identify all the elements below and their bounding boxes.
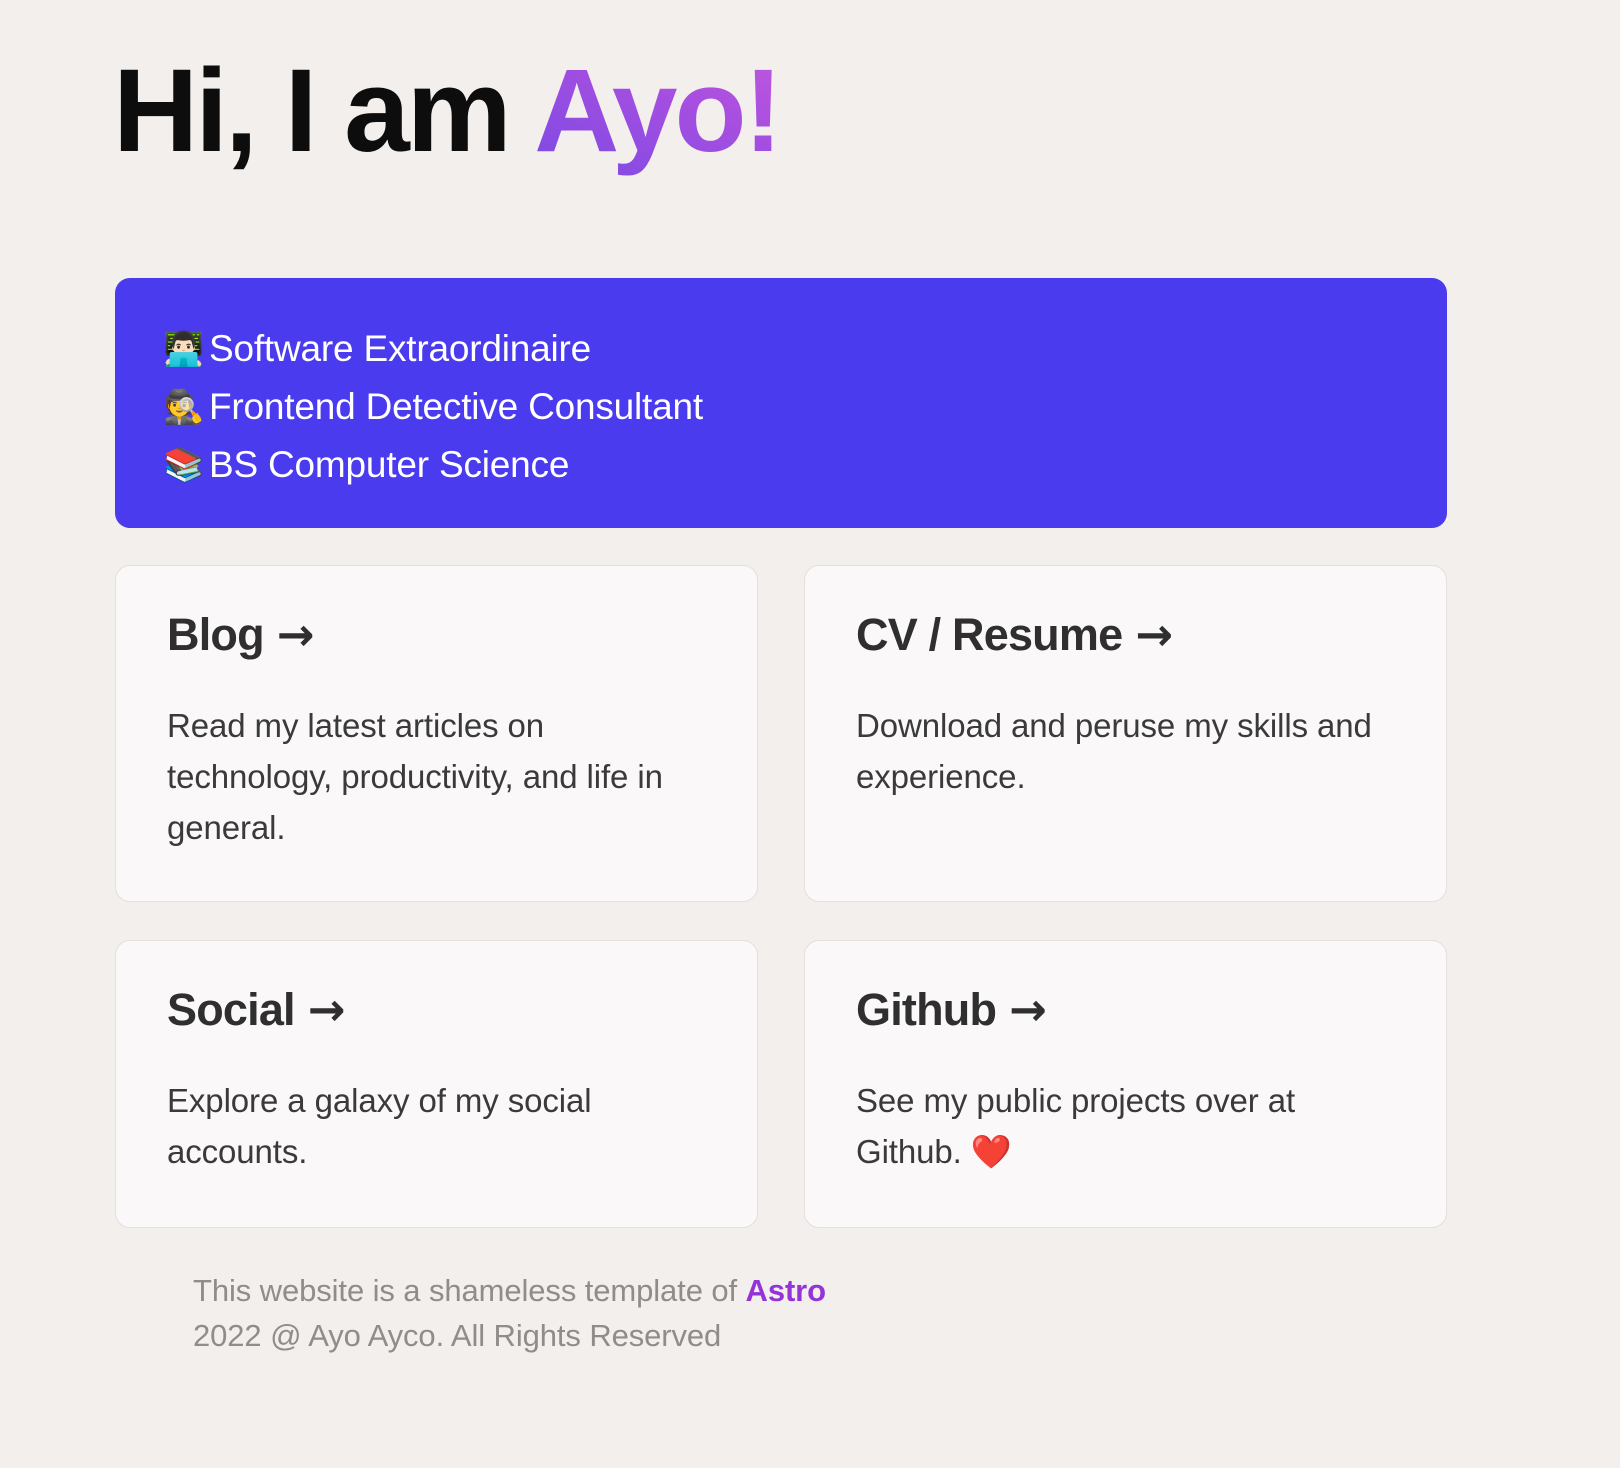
card-title: Social→ (167, 985, 717, 1035)
intro-item-label: BS Computer Science (209, 436, 569, 494)
arrow-right-icon: → (1135, 610, 1172, 660)
card-github[interactable]: Github→ See my public projects over at G… (804, 940, 1447, 1228)
card-title-label: CV / Resume (856, 609, 1122, 660)
card-title: CV / Resume→ (856, 610, 1406, 660)
card-description: Explore a galaxy of my social accounts. (167, 1075, 717, 1177)
intro-item-label: Software Extraordinaire (209, 320, 591, 378)
man-technologist-emoji: 👨🏻‍💻 (163, 320, 209, 378)
card-title: Github→ (856, 985, 1406, 1035)
detective-emoji: 🕵️ (163, 378, 209, 436)
list-item: 🕵️ Frontend Detective Consultant (163, 378, 1447, 436)
footer-line-copyright: 2022 @ Ayo Ayco. All Rights Reserved (193, 1313, 826, 1358)
page-title-greeting: Hi, I am (113, 45, 534, 177)
astro-link[interactable]: Astro (746, 1273, 826, 1308)
red-heart-emoji: ❤️ (971, 1132, 1012, 1171)
card-title-label: Social (167, 984, 295, 1035)
intro-list: 👨🏻‍💻 Software Extraordinaire 🕵️ Frontend… (163, 320, 1447, 494)
card-title-label: Github (856, 984, 996, 1035)
card-description: Read my latest articles on technology, p… (167, 700, 717, 853)
card-title-label: Blog (167, 609, 264, 660)
list-item: 📚 BS Computer Science (163, 436, 1447, 494)
books-emoji: 📚 (163, 436, 209, 494)
card-blog[interactable]: Blog→ Read my latest articles on technol… (115, 565, 758, 902)
arrow-right-icon: → (277, 610, 314, 660)
card-title: Blog→ (167, 610, 717, 660)
site-footer: This website is a shameless template of … (193, 1268, 826, 1358)
card-social[interactable]: Social→ Explore a galaxy of my social ac… (115, 940, 758, 1228)
arrow-right-icon: → (1009, 985, 1046, 1035)
card-grid: Blog→ Read my latest articles on technol… (115, 565, 1447, 1228)
list-item: 👨🏻‍💻 Software Extraordinaire (163, 320, 1447, 378)
landing-page: Hi, I am Ayo! 👨🏻‍💻 Software Extraordinai… (0, 0, 1620, 1468)
card-description-text: See my public projects over at Github. (856, 1082, 1295, 1170)
page-title-name: Ayo! (534, 45, 780, 177)
card-description: Download and peruse my skills and experi… (856, 700, 1406, 802)
intro-panel: 👨🏻‍💻 Software Extraordinaire 🕵️ Frontend… (115, 278, 1447, 528)
card-description: See my public projects over at Github. ❤… (856, 1075, 1406, 1177)
footer-line-template: This website is a shameless template of … (193, 1268, 826, 1313)
card-cv-resume[interactable]: CV / Resume→ Download and peruse my skil… (804, 565, 1447, 902)
arrow-right-icon: → (308, 985, 345, 1035)
page-title: Hi, I am Ayo! (113, 52, 780, 170)
intro-item-label: Frontend Detective Consultant (209, 378, 703, 436)
footer-template-text: This website is a shameless template of (193, 1273, 746, 1308)
